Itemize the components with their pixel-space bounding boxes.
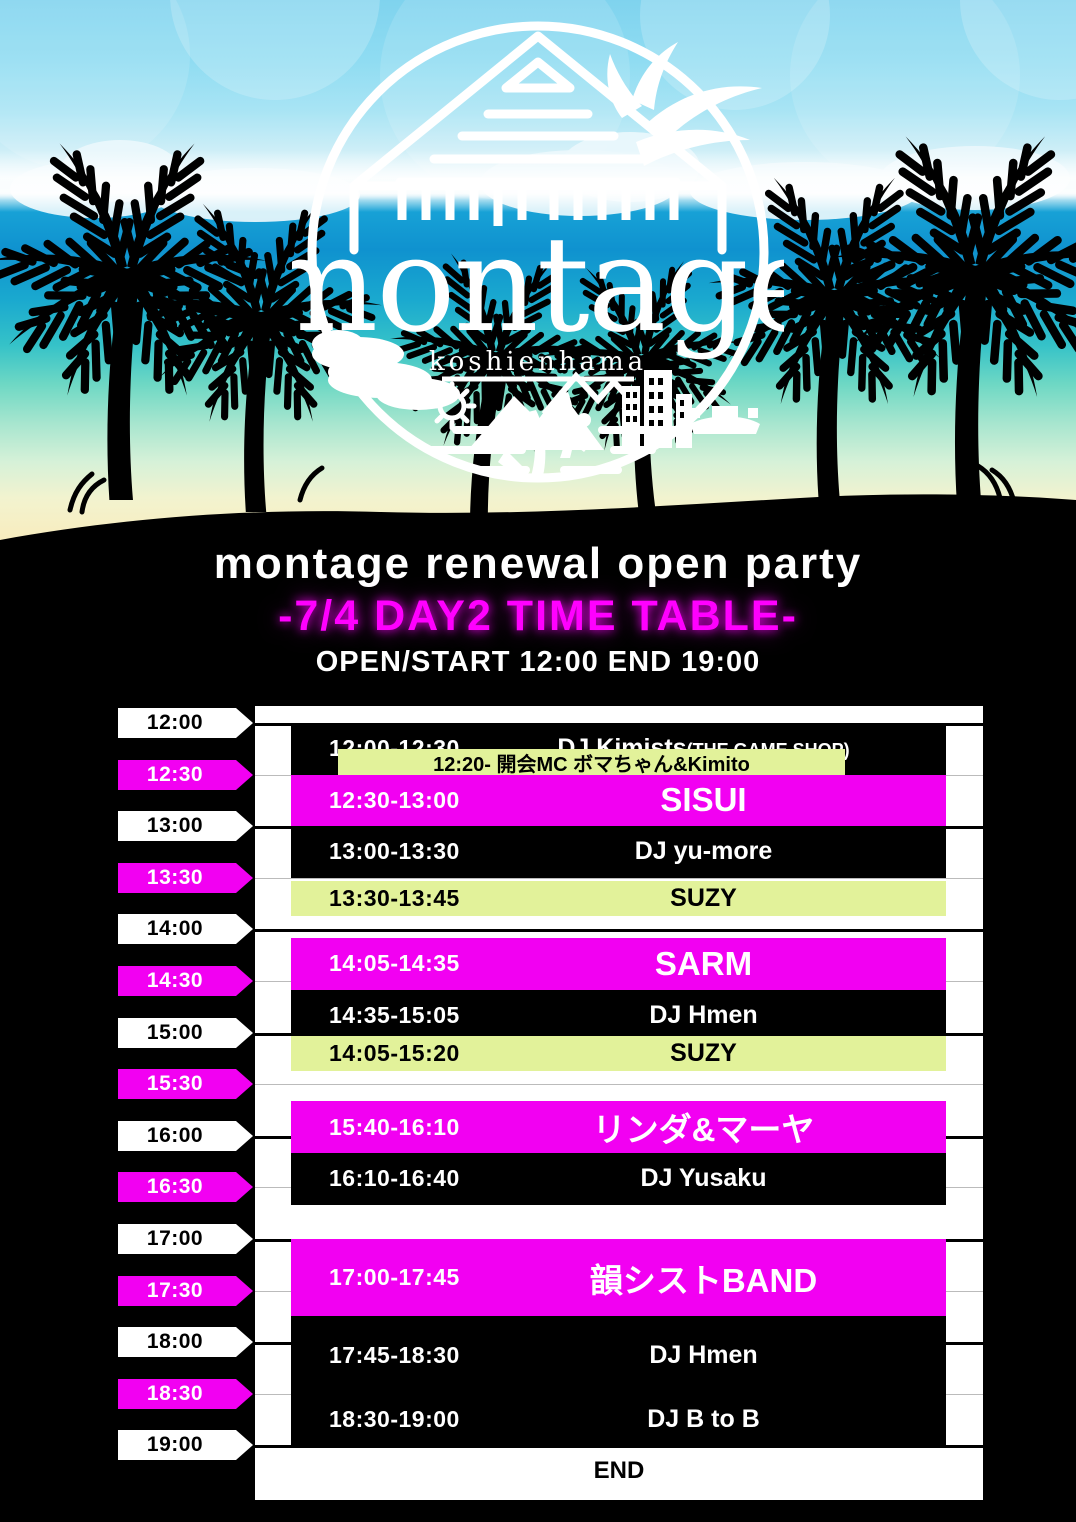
timeline-tick-label: 12:30 [147, 763, 203, 787]
timeline-tick-arrow [236, 708, 253, 738]
timetable-row: 13:30-13:45SUZY [291, 881, 946, 916]
logo-location: koshienhama [429, 347, 647, 377]
timeline-tick-label: 16:00 [147, 1124, 203, 1148]
gridline-1330 [255, 878, 983, 879]
title-block: montage renewal open party -7/4 DAY2 TIM… [0, 540, 1076, 679]
timeline-tick-label: 19:00 [147, 1433, 203, 1457]
timeline-tick-1230: 12:30 [118, 760, 236, 790]
timeline-tick-label: 15:00 [147, 1021, 203, 1045]
slot-time: 16:10-16:40 [291, 1165, 501, 1192]
timeline-tick-arrow [236, 914, 253, 944]
slot-artist-name: リンダ&マーヤ [593, 1111, 815, 1148]
timetable-row: 14:35-15:05DJ Hmen [291, 990, 946, 1042]
timeline-tick-label: 16:30 [147, 1175, 203, 1199]
timeline-tick-label: 12:00 [147, 711, 203, 735]
timeline-tick-label: 18:30 [147, 1382, 203, 1406]
timeline-tick-arrow [236, 760, 253, 790]
timetable-row: 14:05-14:35SARM [291, 938, 946, 990]
gridline-1400 [255, 929, 983, 932]
timeline-tick-1400: 14:00 [118, 914, 236, 944]
slot-artist-name: DJ Hmen [649, 1341, 757, 1369]
slot-artist-name: DJ Hmen [649, 1001, 757, 1029]
slot-time: 18:30-19:00 [291, 1406, 501, 1433]
timeline-tick-label: 15:30 [147, 1072, 203, 1096]
page-subtitle: -7/4 DAY2 TIME TABLE- [0, 592, 1076, 640]
slot-artist: DJ Hmen [501, 1001, 946, 1030]
timeline-tick-label: 17:30 [147, 1279, 203, 1303]
slot-artist: SARM [501, 945, 946, 983]
montage-logo: montage koshienhama [292, 14, 784, 484]
timeline-tick-arrow [236, 1069, 253, 1099]
timeline-tick-arrow [236, 1379, 253, 1409]
timeline-tick-1730: 17:30 [118, 1276, 236, 1306]
timeline-tick-label: 13:30 [147, 866, 203, 890]
timeline-ticks: 12:0012:3013:0013:3014:0014:3015:0015:30… [118, 706, 268, 1496]
timeline-tick-arrow [236, 1224, 253, 1254]
timeline-tick-arrow [236, 966, 253, 996]
poster-root: montage koshienhama [0, 0, 1076, 1522]
slot-time: 17:00-17:45 [291, 1264, 501, 1291]
timeline-tick-arrow [236, 1121, 253, 1151]
timeline-tick-arrow [236, 811, 253, 841]
slot-time: 12:30-13:00 [291, 787, 501, 814]
timeline-tick-label: 18:00 [147, 1330, 203, 1354]
timeline-tick-arrow [236, 863, 253, 893]
mc-announcement-bar: 12:20- 開会MC ボマちゃん&Kimito [338, 749, 845, 775]
timeline-tick-1200: 12:00 [118, 708, 236, 738]
timetable-row: 14:05-15:20SUZY [291, 1036, 946, 1071]
page-title: montage renewal open party [0, 540, 1076, 588]
slot-artist: 韻シストBAND [501, 1254, 946, 1302]
slot-time: 14:05-15:20 [291, 1040, 501, 1067]
timeline-tick-arrow [236, 1430, 253, 1460]
timeline-tick-1700: 17:00 [118, 1224, 236, 1254]
timetable-row: 16:10-16:40DJ Yusaku [291, 1153, 946, 1205]
timeline-tick-arrow [236, 1327, 253, 1357]
slot-artist: DJ Hmen [501, 1341, 946, 1370]
timetable-row: 17:00-17:45韻シストBAND [291, 1239, 946, 1316]
slot-artist-name: DJ Yusaku [640, 1164, 766, 1192]
slot-time: 14:35-15:05 [291, 1002, 501, 1029]
slot-artist-name: DJ B to B [647, 1405, 760, 1433]
timetable-row: 17:45-18:30DJ Hmen [291, 1316, 946, 1393]
slot-time: 13:30-13:45 [291, 885, 501, 912]
timeline-tick-label: 14:00 [147, 917, 203, 941]
slot-artist: SUZY [501, 1039, 946, 1068]
timeline-tick-label: 14:30 [147, 969, 203, 993]
end-bar: END [255, 1448, 983, 1494]
timeline-tick-label: 13:00 [147, 814, 203, 838]
timeline-tick-label: 17:00 [147, 1227, 203, 1251]
slot-time: 17:45-18:30 [291, 1342, 501, 1369]
slot-artist: SISUI [501, 781, 946, 819]
slot-artist: DJ yu-more [501, 837, 946, 866]
slot-artist: DJ B to B [501, 1405, 946, 1434]
timeline-tick-1500: 15:00 [118, 1018, 236, 1048]
timeline-tick-1430: 14:30 [118, 966, 236, 996]
timeline-tick-1900: 19:00 [118, 1430, 236, 1460]
slot-artist-name: 韻シストBAND [590, 1262, 817, 1299]
timetable-row: 18:30-19:00DJ B to B [291, 1394, 946, 1446]
open-hours: OPEN/START 12:00 END 19:00 [0, 646, 1076, 679]
timeline-tick-arrow [236, 1172, 253, 1202]
slot-time: 15:40-16:10 [291, 1114, 501, 1141]
timeline-tick-arrow [236, 1276, 253, 1306]
timeline-tick-1300: 13:00 [118, 811, 236, 841]
timeline-tick-1830: 18:30 [118, 1379, 236, 1409]
slot-artist-name: SUZY [670, 884, 737, 912]
slot-artist-name: DJ yu-more [635, 837, 773, 865]
slot-artist-name: SARM [655, 945, 752, 982]
slot-artist-name: SUZY [670, 1039, 737, 1067]
timetable-row: 15:40-16:10リンダ&マーヤ [291, 1101, 946, 1153]
slot-artist-name: SISUI [660, 781, 746, 818]
timeline-tick-1330: 13:30 [118, 863, 236, 893]
timeline-tick-arrow [236, 1018, 253, 1048]
slot-artist: リンダ&マーヤ [501, 1103, 946, 1151]
slot-time: 14:05-14:35 [291, 950, 501, 977]
gridline-1530 [255, 1084, 983, 1085]
timetable: 12:00-12:30DJ Kimists(THE GAME SHOP)12:3… [255, 706, 983, 1500]
timeline-tick-1530: 15:30 [118, 1069, 236, 1099]
timeline-tick-1800: 18:00 [118, 1327, 236, 1357]
slot-time: 13:00-13:30 [291, 838, 501, 865]
timeline-tick-1600: 16:00 [118, 1121, 236, 1151]
timetable-row: 13:00-13:30DJ yu-more [291, 826, 946, 878]
timetable-row: 12:30-13:00SISUI [291, 775, 946, 827]
slot-artist: DJ Yusaku [501, 1164, 946, 1193]
slot-artist: SUZY [501, 884, 946, 913]
timeline-tick-1630: 16:30 [118, 1172, 236, 1202]
